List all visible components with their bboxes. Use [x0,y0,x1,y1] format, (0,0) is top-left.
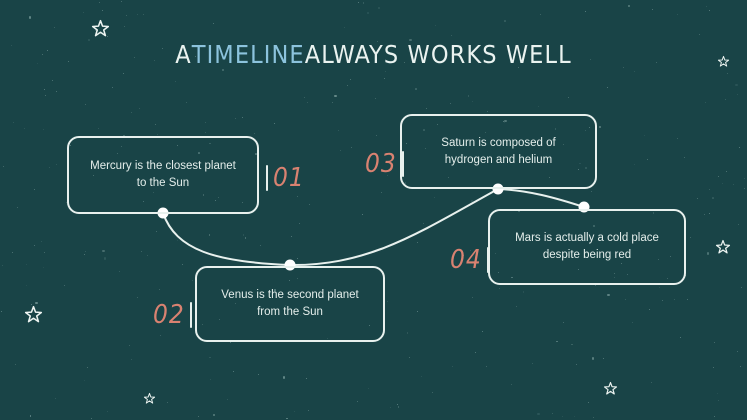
title-part-after: ALWAYS WORKS WELL [305,40,572,69]
title-part-before: A [175,40,191,69]
title-highlight: TIMELINE [192,40,305,69]
star-top-left-icon [92,20,109,37]
timeline-number-03-label: 03 [365,149,397,179]
timeline-card-01-text: Mercury is the closest planet to the Sun [90,158,236,191]
timeline-number-02: 02 [153,300,192,330]
star-bottom-center-left-icon [144,393,155,404]
timeline-tick-01 [266,165,268,191]
timeline-card-03-text: Saturn is composed of hydrogen and heliu… [441,135,555,168]
slide-canvas: A TIMELINE ALWAYS WORKS WELL Mercury is … [0,0,747,420]
timeline-number-01: 01 [266,163,305,193]
page-title: A TIMELINE ALWAYS WORKS WELL [0,40,747,69]
timeline-number-04: 04 [450,245,489,275]
connector-segment-1-2 [163,213,290,265]
star-bottom-right-icon [604,382,617,395]
timeline-card-02-text: Venus is the second planet from the Sun [221,287,358,320]
timeline-number-04-label: 04 [450,245,482,275]
timeline-tick-02 [190,302,192,328]
timeline-number-02-label: 02 [153,300,185,330]
star-mid-right-icon [716,240,730,254]
timeline-tick-03 [402,151,404,177]
connector-segment-3-4 [498,189,584,207]
timeline-card-04-text: Mars is actually a cold place despite be… [515,230,659,263]
timeline-card-04[interactable]: Mars is actually a cold place despite be… [488,209,686,285]
star-bottom-left-icon [25,306,42,323]
timeline-card-01[interactable]: Mercury is the closest planet to the Sun [67,136,259,214]
timeline-card-02[interactable]: Venus is the second planet from the Sun [195,266,385,342]
timeline-number-01-label: 01 [273,163,305,193]
timeline-card-03[interactable]: Saturn is composed of hydrogen and heliu… [400,114,597,189]
timeline-tick-04 [487,247,489,273]
timeline-number-03: 03 [365,149,404,179]
